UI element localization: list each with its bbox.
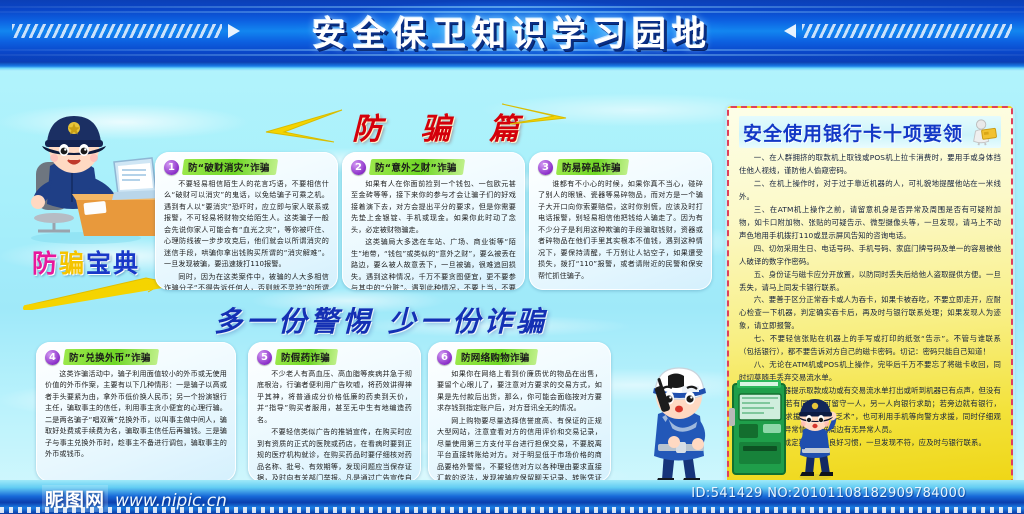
card-header: 1 防“破财消灾”诈骗 [164,159,329,175]
handbook-char-3: 宝 [86,249,113,278]
panel-title: 安全使用银行卡十项要领 [743,119,963,146]
left-mascot-block: 防骗宝典 [14,96,169,296]
card-number-badge: 4 [45,350,60,365]
card-title-text: 防“兑换外币”诈骗 [69,350,151,364]
card-title: 防“兑换外币”诈骗 [63,349,159,365]
card-title-text: 防假药诈骗 [281,350,330,364]
chapter-arrow-right-icon [500,100,570,130]
page-title: 安全保卫知识学习园地 [0,7,1024,56]
card-number-badge: 6 [437,350,452,365]
card-title-text: 防“意外之财”诈骗 [375,160,457,174]
card-body: 这类诈骗活动中，骗子利用面值较小的外币或无使用价值的外币作案，主要有以下几种情形… [45,368,227,460]
card-title: 防假药诈骗 [275,349,338,365]
handbook-char-2: 骗 [59,249,86,278]
info-card[interactable]: 4 防“兑换外币”诈骗 这类诈骗活动中，骗子利用面值较小的外币或无使用价值的外币… [36,342,236,482]
handbook-char-4: 典 [113,249,140,278]
panel-item: 五、身份证与磁卡应分开放置，以防同时丢失后给他人盗取提供方便。一旦丢失，请马上同… [739,269,1001,295]
card-paragraph: 网上购物要尽量选择信誉度高、有保证的正规大型网站，注意查看对方的信用评价和交易记… [437,415,602,482]
card-paragraph: 这类诈骗活动中，骗子利用面值较小的外币或无使用价值的外币作案，主要有以下几种情形… [45,368,227,460]
panel-item: 三、在ATM机上操作之前，请留意机身是否异常及周围是否有可疑附加物，如卡口附加物… [739,204,1001,243]
card-paragraph: 谁都有不小心的时候，如果你真不当心，碰碎了别人的眼镜、瓷器等易碎物品，而对方是一… [538,178,703,281]
card-number-badge: 5 [257,350,272,365]
card-header: 4 防“兑换外币”诈骗 [45,349,227,365]
panel-item: 六、要善于区分正常吞卡或人为吞卡，如果卡被吞吃，不要立即走开，应耐心检查一下机器… [739,294,1001,333]
panel-item: 一、在人群拥挤的取款机上取钱或POS机上拉卡消费时，要用手或身体挡住他人视线，谨… [739,152,1001,178]
panel-item: 七、不要轻信张贴在机器上的手写或打印的纸张“告示”。不管与谁联系（包括银行），都… [739,333,1001,359]
card-paragraph: 如果你在网络上看到价廉质优的物品在出售，要留个心眼儿了，要注意对方要求的交易方式… [437,368,602,414]
atm-machine-icon [727,378,793,478]
card-title: 防“意外之财”诈骗 [369,159,465,175]
card-number-badge: 1 [164,160,179,175]
card-title-text: 防易碎品诈骗 [562,160,621,174]
card-number-badge: 2 [351,160,366,175]
card-header: 6 防网络购物诈骗 [437,349,602,365]
info-card[interactable]: 6 防网络购物诈骗 如果你在网络上看到价廉质优的物品在出售，要留个心眼儿了，要注… [428,342,611,482]
card-paragraph: 如果有人在你面前捡到一个钱包、一包欧元甚至金砖等等，接下来你的参与才会让骗子们的… [351,178,516,235]
card-number-badge: 3 [538,160,553,175]
card-body: 如果你在网络上看到价廉质优的物品在出售，要留个心眼儿了，要注意对方要求的交易方式… [437,368,602,482]
handbook-title: 防骗宝典 [32,244,140,280]
card-paragraph: 不要轻易相信陌生人的花言巧语，不要相信什么“破财可以消灾”的鬼话，以免给骗子可乘… [164,178,329,270]
info-card[interactable]: 5 防假药诈骗 不少老人有高血压、高血脂等疾病并急于彻底根治，行骗者便利用广告吹… [248,342,421,482]
card-title-text: 防网络购物诈骗 [461,350,530,364]
card-paragraph: 不要轻信类似广告的推销宣传，在购买时应到有资质的正式的医院或药店，在看病时要到正… [257,426,412,482]
card-title: 防易碎品诈骗 [556,159,629,175]
card-title: 防“破财消灾”诈骗 [182,159,278,175]
card-body: 不少老人有高血压、高血脂等疾病并急于彻底根治，行骗者便利用广告吹嘘，将药效讲得神… [257,368,412,482]
card-body: 谁都有不小心的时候，如果你真不当心，碰碎了别人的眼镜、瓷器等易碎物品，而对方是一… [538,178,703,281]
slogan-text: 多一份警惕 少一份诈骗 [166,300,596,340]
header-banner: 安全保卫知识学习园地 [0,0,1024,62]
card-header: 2 防“意外之财”诈骗 [351,159,516,175]
info-card[interactable]: 2 防“意外之财”诈骗 如果有人在你面前捡到一个钱包、一包欧元甚至金砖等等，接下… [342,152,525,290]
footer-bar: 昵图网 www.nipic.cn ID:541429 NO:2010110818… [0,480,1024,514]
card-header: 3 防易碎品诈骗 [538,159,703,175]
card-title-text: 防“破财消灾”诈骗 [188,160,270,174]
card-title: 防网络购物诈骗 [455,349,538,365]
traffic-police-officer-with-radio-icon [624,356,730,488]
card-body: 如果有人在你面前捡到一个钱包、一包欧元甚至金砖等等，接下来你的参与才会让骗子们的… [351,178,516,290]
footer-dash-decoration [0,507,1024,513]
panel-item: 四、切勿采用生日、电话号码、手机号码、家庭门牌号码及单一的容易被他人破译的数字作… [739,243,1001,269]
card-body: 不要轻易相信陌生人的花言巧语，不要相信什么“破财可以消灾”的鬼话，以免给骗子可乘… [164,178,329,290]
panel-item: 二、在机上操作时，对于过于靠近机器的人，可礼貌地提醒他站在一米线外。 [739,178,1001,204]
footer-id-text: ID:541429 NO:20101108182909784000 [691,486,966,501]
handbook-char-1: 防 [32,249,59,278]
info-card[interactable]: 1 防“破财消灾”诈骗 不要轻易相信陌生人的花言巧语，不要相信什么“破财可以消灾… [155,152,338,290]
yellow-arrow-decoration-left [20,276,170,310]
saluting-police-officer-icon [787,392,843,480]
panel-header: 安全使用银行卡十项要领 [739,116,1001,148]
bank-card-tips-panel[interactable]: 安全使用银行卡十项要领 一、在人群拥挤的取款机上取钱或POS机上拉卡消费时，要用… [727,106,1013,484]
info-card[interactable]: 3 防易碎品诈骗 谁都有不小心的时候，如果你真不当心，碰碎了别人的眼镜、瓷器等易… [529,152,712,290]
card-header: 5 防假药诈骗 [257,349,412,365]
person-with-card-icon [969,118,997,146]
police-officer-at-desk-icon [14,96,169,246]
card-paragraph: 不少老人有高血压、高血脂等疾病并急于彻底根治，行骗者便利用广告吹嘘，将药效讲得神… [257,368,412,425]
header-base-gradient [0,62,1024,71]
chapter-arrow-left-icon [262,106,346,146]
card-paragraph: 这类骗局大多选在车站、广场、商业街等“陌生”地带，“钱包”或类似的“意外之财”，… [351,236,516,290]
card-paragraph: 同时，因为在这类案件中，被骗的人大多相信诈骗分子“不得告诉任何人，否则就不灵验”… [164,271,329,290]
poster-root: 安全保卫知识学习园地 [0,0,1024,514]
